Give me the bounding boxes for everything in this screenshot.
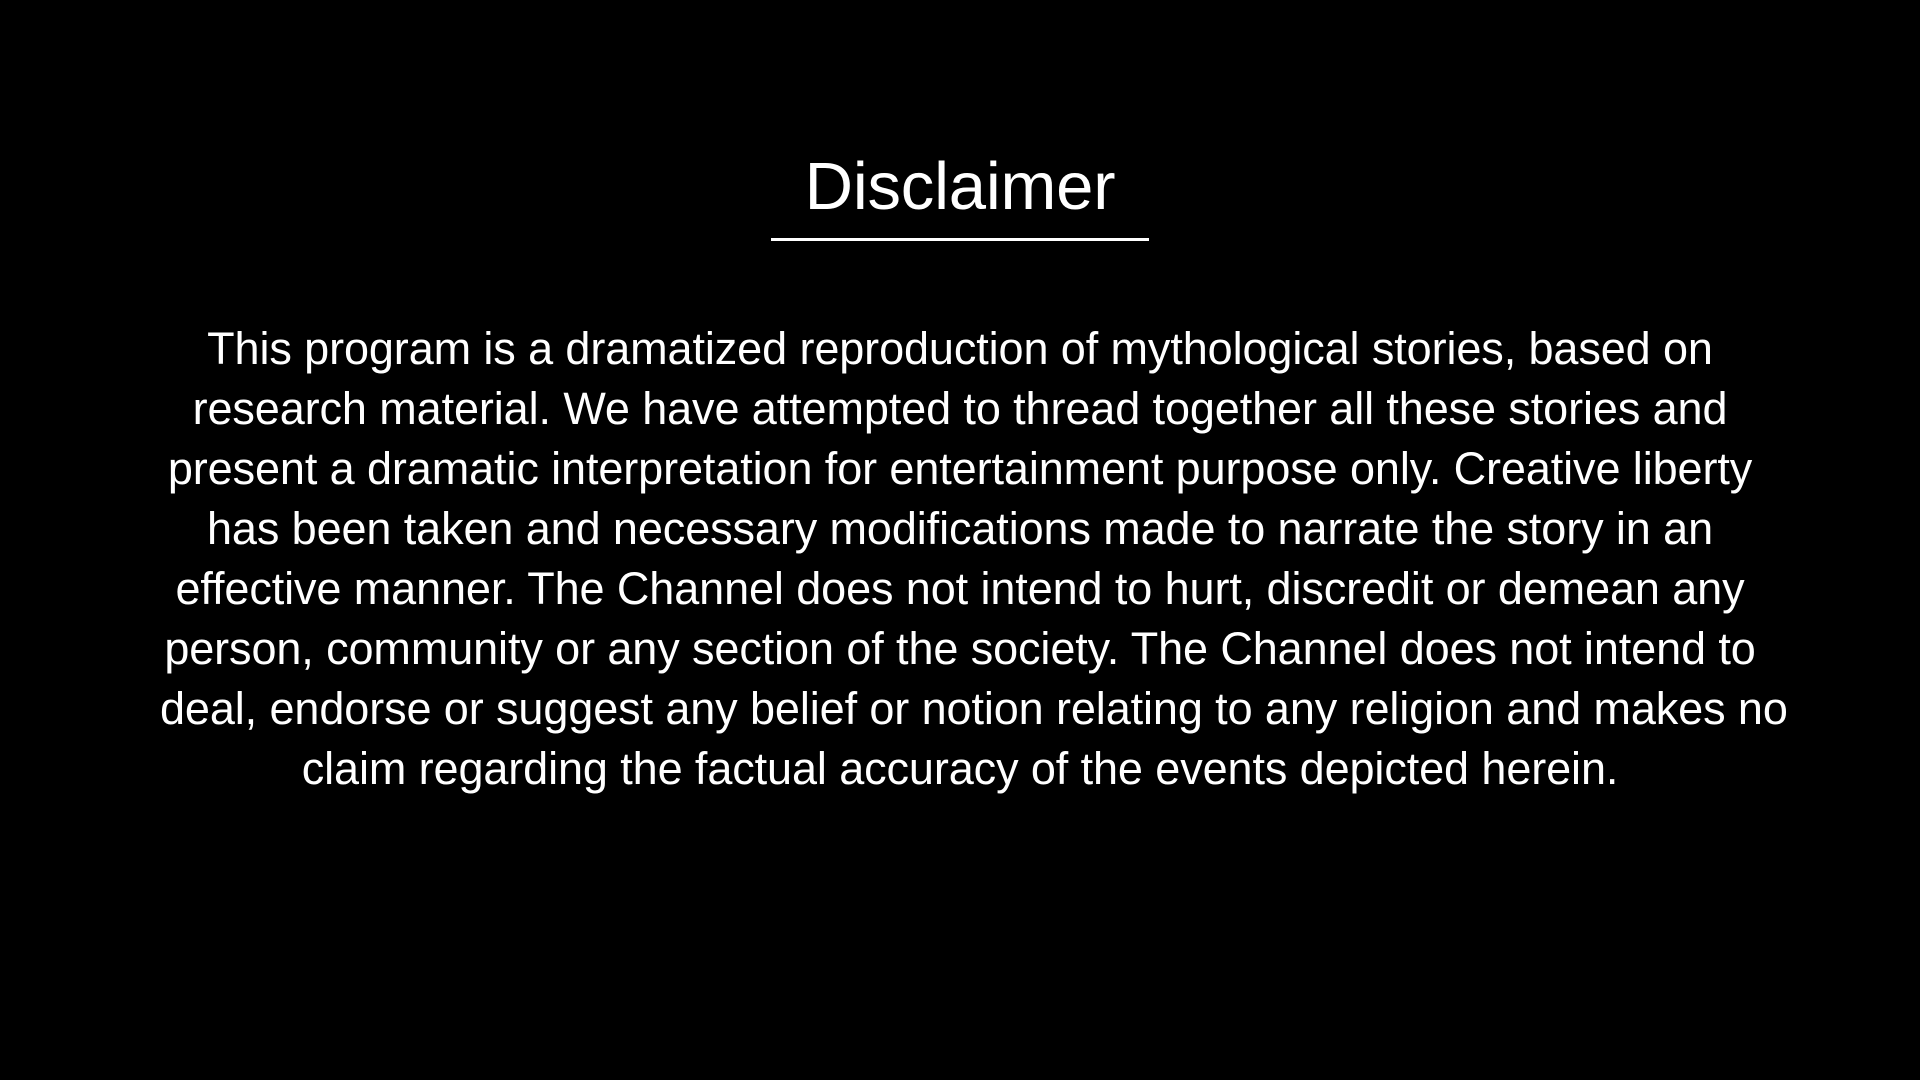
body-line: This program is a dramatized reproductio… [160, 319, 1760, 379]
body-line: has been taken and necessary modificatio… [160, 499, 1760, 559]
body-line: person, community or any section of the … [160, 619, 1760, 679]
body-line: research material. We have attempted to … [160, 379, 1760, 439]
disclaimer-slide: Disclaimer This program is a dramatized … [0, 0, 1920, 1080]
title-block: Disclaimer [0, 148, 1920, 241]
body-line: claim regarding the factual accuracy of … [160, 739, 1760, 799]
body-line: deal, endorse or suggest any belief or n… [160, 679, 1760, 739]
body-line: effective manner. The Channel does not i… [160, 559, 1760, 619]
body-line: present a dramatic interpretation for en… [160, 439, 1760, 499]
page-title: Disclaimer [0, 148, 1920, 226]
title-underline-divider [771, 238, 1149, 241]
disclaimer-body: This program is a dramatized reproductio… [160, 319, 1760, 799]
